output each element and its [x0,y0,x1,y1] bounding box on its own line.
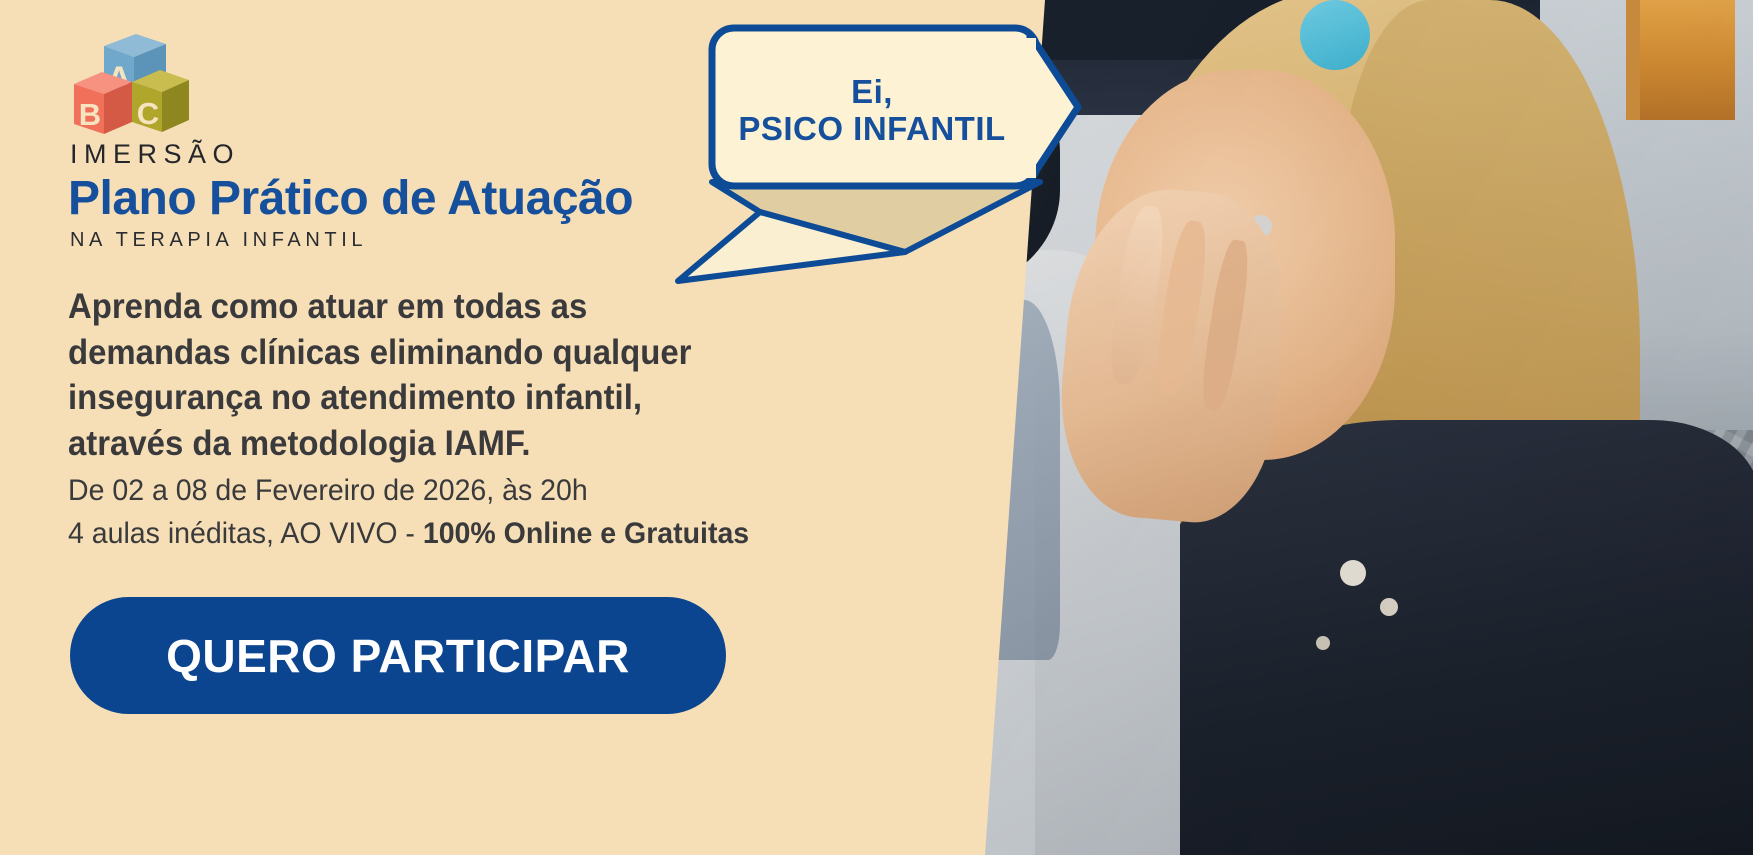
lede-line-1: Aprenda como atuar em todas as [68,284,782,330]
lede-line-4: através da metodologia IAMF. [68,421,782,467]
quero-participar-button[interactable]: QUERO PARTICIPAR [70,597,726,714]
left-content-panel: A B C IMERSÃO Plano Prático de [0,0,900,855]
page-title: Plano Prático de Atuação [68,171,633,226]
bubble-nose-seam [1016,38,1036,178]
lede-line-2: demandas clínicas eliminando qualquer [68,330,782,376]
svg-text:B: B [79,97,101,132]
abc-blocks-logo: A B C [70,28,192,140]
cta-label: QUERO PARTICIPAR [166,629,630,683]
page-subtitle: NA TERAPIA INFANTIL [70,229,367,252]
schedule-classes-highlight: 100% Online e Gratuitas [423,517,749,550]
block-c-icon: C [132,70,189,132]
svg-text:C: C [137,96,159,131]
block-b-icon: B [74,72,132,134]
promo-banner: A B C IMERSÃO Plano Prático de [0,0,1753,855]
lede-paragraph: Aprenda como atuar em todas as demandas … [68,284,782,466]
kicker-label: IMERSÃO [70,139,240,170]
schedule-dates: De 02 a 08 de Fevereiro de 2026, às 20h [68,470,923,513]
lede-line-3: insegurança no atendimento infantil, [68,375,782,421]
schedule-classes: 4 aulas inéditas, AO VIVO - 100% Online … [68,513,923,556]
schedule-block: De 02 a 08 de Fevereiro de 2026, às 20h … [68,470,923,555]
schedule-classes-prefix: 4 aulas inéditas, AO VIVO - [68,517,423,550]
